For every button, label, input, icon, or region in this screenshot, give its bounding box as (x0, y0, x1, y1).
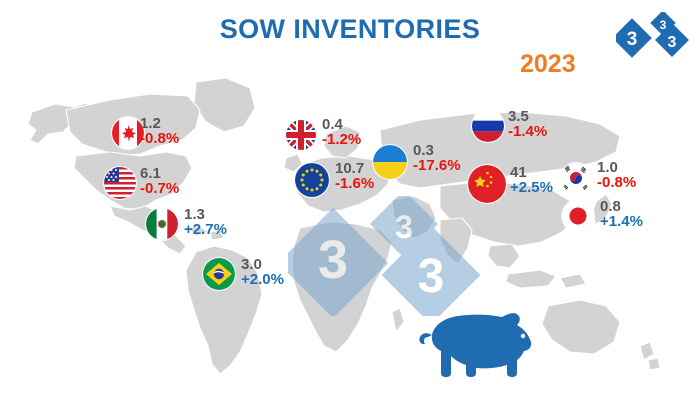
marker-usa[interactable]: 6.1 -0.7% (104, 167, 194, 203)
flag-mexico-icon (146, 208, 178, 240)
flag-russia-icon (472, 110, 504, 142)
change-ukraine: -17.6% (413, 158, 461, 173)
change-uk: -1.2% (322, 132, 361, 147)
value-usa: 6.1 (140, 166, 179, 181)
marker-japan[interactable]: 0.8 +1.4% (562, 200, 657, 236)
change-canada: -0.8% (140, 131, 179, 146)
change-japan: +1.4% (600, 214, 643, 229)
change-southkorea: -0.8% (597, 175, 636, 190)
svg-text:3: 3 (660, 18, 667, 32)
value-ukraine: 0.3 (413, 143, 461, 158)
change-brazil: +2.0% (241, 272, 284, 287)
flag-ukraine-icon (373, 145, 407, 179)
marker-russia[interactable]: 3.5 -1.4% (472, 110, 562, 146)
value-southkorea: 1.0 (597, 160, 636, 175)
value-eu: 10.7 (335, 161, 374, 176)
marker-canada[interactable]: 1.2 -0.8% (112, 117, 192, 153)
flag-eu-icon (295, 163, 329, 197)
change-russia: -1.4% (508, 124, 547, 139)
change-usa: -0.7% (140, 181, 179, 196)
change-mexico: +2.7% (184, 222, 227, 237)
value-uk: 0.4 (322, 117, 361, 132)
marker-mexico[interactable]: 1.3 +2.7% (146, 208, 241, 244)
value-japan: 0.8 (600, 199, 643, 214)
marker-southkorea[interactable]: 1.0 -0.8% (561, 163, 656, 199)
value-brazil: 3.0 (241, 257, 284, 272)
flag-uk-icon (286, 120, 316, 150)
333-logo[interactable]: 3 3 3 (616, 12, 690, 60)
svg-text:3: 3 (668, 34, 677, 51)
value-canada: 1.2 (140, 116, 179, 131)
flag-japan-icon (562, 200, 594, 232)
pig-silhouette-icon (410, 305, 560, 385)
change-china: +2.5% (510, 180, 553, 195)
svg-text:3: 3 (627, 29, 638, 50)
value-china: 41 (510, 165, 553, 180)
year-label: 2023 (520, 50, 576, 79)
flag-china-icon (468, 165, 506, 203)
marker-ukraine[interactable]: 0.3 -17.6% (373, 145, 473, 183)
page-title: SOW INVENTORIES (0, 14, 700, 45)
value-mexico: 1.3 (184, 207, 227, 222)
flag-usa-icon (104, 167, 136, 199)
marker-brazil[interactable]: 3.0 +2.0% (203, 258, 298, 294)
marker-china[interactable]: 41 +2.5% (468, 165, 563, 205)
change-eu: -1.6% (335, 176, 374, 191)
infographic-canvas: 3 3 3 SOW INVENTORIES 2023 3 (0, 0, 700, 400)
flag-brazil-icon (203, 258, 235, 290)
marker-uk[interactable]: 0.4 -1.2% (286, 120, 376, 156)
value-russia: 3.5 (508, 109, 547, 124)
flag-southkorea-icon (561, 163, 591, 193)
